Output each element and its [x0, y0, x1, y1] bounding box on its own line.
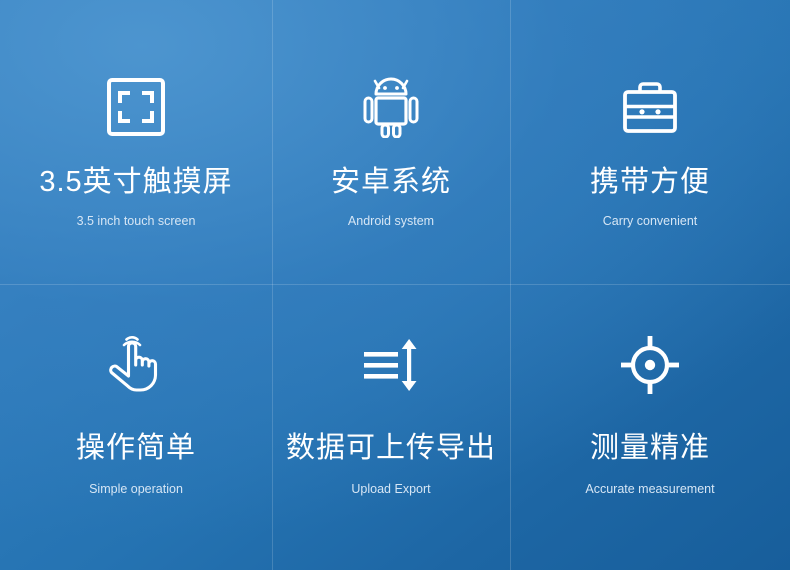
feature-title-en: Simple operation — [89, 483, 183, 496]
crosshair-target-icon — [615, 330, 685, 400]
feature-cell-upload-export[interactable]: 数据可上传导出 Upload Export — [272, 284, 510, 570]
feature-title-cn: 3.5英寸触摸屏 — [39, 168, 232, 197]
briefcase-icon — [615, 72, 685, 142]
feature-cell-accurate-measurement[interactable]: 测量精准 Accurate measurement — [510, 284, 790, 570]
feature-cell-carry-convenient[interactable]: 携带方便 Carry convenient — [510, 0, 790, 284]
feature-title-cn: 操作简单 — [76, 434, 196, 463]
feature-title-cn: 测量精准 — [590, 434, 710, 463]
feature-cell-touch-screen[interactable]: 3.5英寸触摸屏 3.5 inch touch screen — [0, 0, 272, 284]
screen-frame-icon — [101, 72, 171, 142]
upload-export-icon — [356, 330, 426, 400]
feature-title-en: 3.5 inch touch screen — [77, 215, 196, 228]
feature-title-cn: 携带方便 — [590, 168, 710, 197]
feature-title-cn: 安卓系统 — [331, 168, 451, 197]
feature-grid: 3.5英寸触摸屏 3.5 inch touch screen — [0, 0, 790, 570]
feature-cell-android-system[interactable]: 安卓系统 Android system — [272, 0, 510, 284]
feature-title-en: Android system — [348, 215, 434, 228]
android-robot-icon — [356, 72, 426, 142]
feature-title-en: Carry convenient — [603, 215, 698, 228]
feature-title-cn: 数据可上传导出 — [286, 434, 496, 463]
feature-title-en: Accurate measurement — [585, 483, 714, 496]
feature-title-en: Upload Export — [351, 483, 430, 496]
feature-board: 3.5英寸触摸屏 3.5 inch touch screen — [0, 0, 790, 570]
tap-hand-icon — [101, 330, 171, 400]
feature-cell-simple-operation[interactable]: 操作简单 Simple operation — [0, 284, 272, 570]
